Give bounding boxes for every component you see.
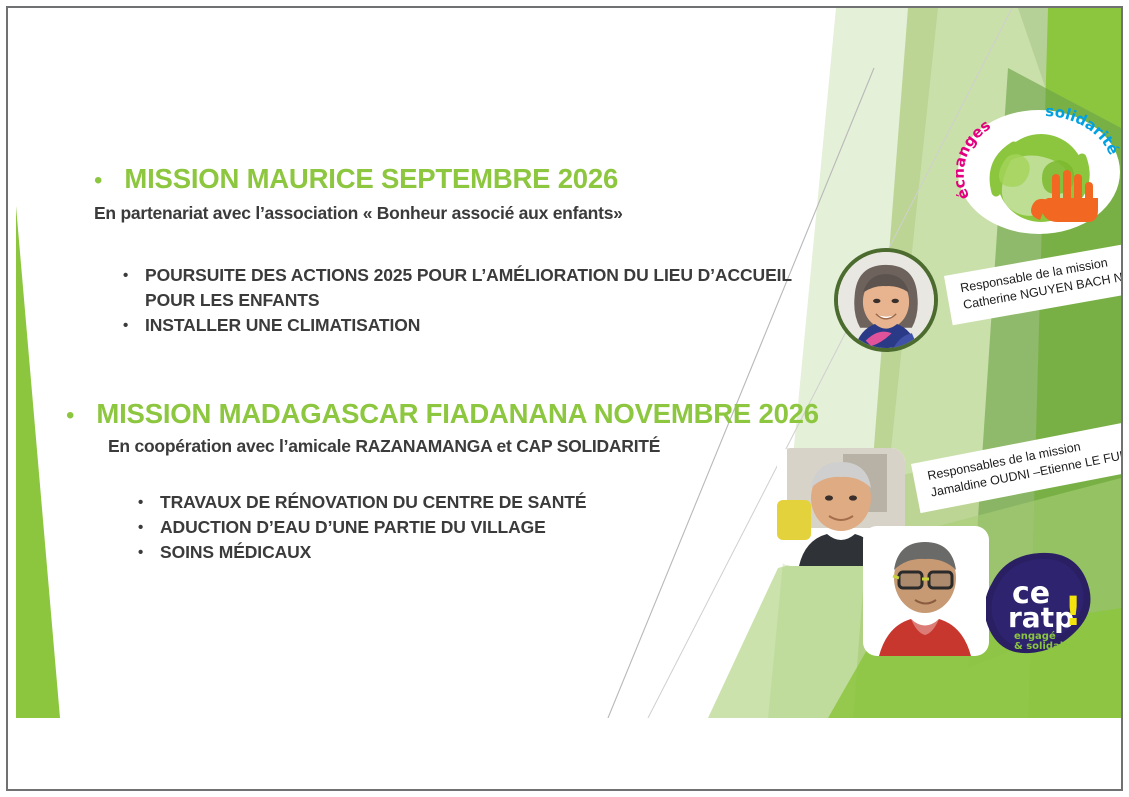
list-bullet-icon: •	[138, 515, 160, 540]
mission-subtitle-1: En partenariat avec l’association « Bonh…	[94, 203, 623, 224]
avatar-jamaldine	[863, 526, 989, 656]
list-item-label: ADUCTION D’EAU D’UNE PARTIE DU VILLAGE	[160, 515, 546, 540]
ceratp-text-exclaim: !	[1064, 589, 1082, 635]
text-content-column: • MISSION MAURICE SEPTEMBRE 2026 En part…	[8, 8, 1008, 718]
avatar-catherine	[834, 248, 938, 352]
list-item: • INSTALLER UNE CLIMATISATION	[123, 313, 823, 338]
mission-subtitle-2: En coopération avec l’amicale RAZANAMANG…	[108, 436, 660, 457]
list-bullet-icon: •	[138, 490, 160, 515]
list-item-label: POURSUITE DES ACTIONS 2025 POUR L’AMÉLIO…	[145, 263, 815, 313]
mission-title-1: MISSION MAURICE SEPTEMBRE 2026	[124, 163, 618, 195]
list-item: • ADUCTION D’EAU D’UNE PARTIE DU VILLAGE	[138, 515, 838, 540]
list-item: • POURSUITE DES ACTIONS 2025 POUR L’AMÉL…	[123, 263, 823, 313]
mission-bullet-icon-1: •	[94, 169, 102, 193]
slide-frame: • MISSION MAURICE SEPTEMBRE 2026 En part…	[6, 6, 1123, 791]
list-bullet-icon: •	[123, 263, 145, 288]
echanges-solidarite-logo-icon: échanges solidarité	[956, 108, 1121, 236]
mission-heading-1: • MISSION MAURICE SEPTEMBRE 2026	[94, 163, 618, 195]
list-item-label: TRAVAUX DE RÉNOVATION DU CENTRE DE SANTÉ	[160, 490, 586, 515]
mission-item-list-1: • POURSUITE DES ACTIONS 2025 POUR L’AMÉL…	[123, 263, 823, 338]
list-bullet-icon: •	[123, 313, 145, 338]
list-item: • TRAVAUX DE RÉNOVATION DU CENTRE DE SAN…	[138, 490, 838, 515]
mission-bullet-icon-2: •	[66, 404, 74, 428]
ce-ratp-logo-icon: ce ratp ! engagé & solidaire	[986, 551, 1094, 655]
list-item: • SOINS MÉDICAUX	[138, 540, 838, 565]
list-bullet-icon: •	[138, 540, 160, 565]
mission-title-2: MISSION MADAGASCAR FIADANANA NOVEMBRE 20…	[96, 398, 818, 430]
list-item-label: SOINS MÉDICAUX	[160, 540, 311, 565]
list-item-label: INSTALLER UNE CLIMATISATION	[145, 313, 420, 338]
mission-heading-2: • MISSION MADAGASCAR FIADANANA NOVEMBRE …	[66, 398, 819, 430]
mission-item-list-2: • TRAVAUX DE RÉNOVATION DU CENTRE DE SAN…	[138, 490, 838, 565]
ceratp-tagline-2: & solidaire	[1014, 641, 1075, 652]
slide-canvas: • MISSION MAURICE SEPTEMBRE 2026 En part…	[8, 8, 1121, 718]
